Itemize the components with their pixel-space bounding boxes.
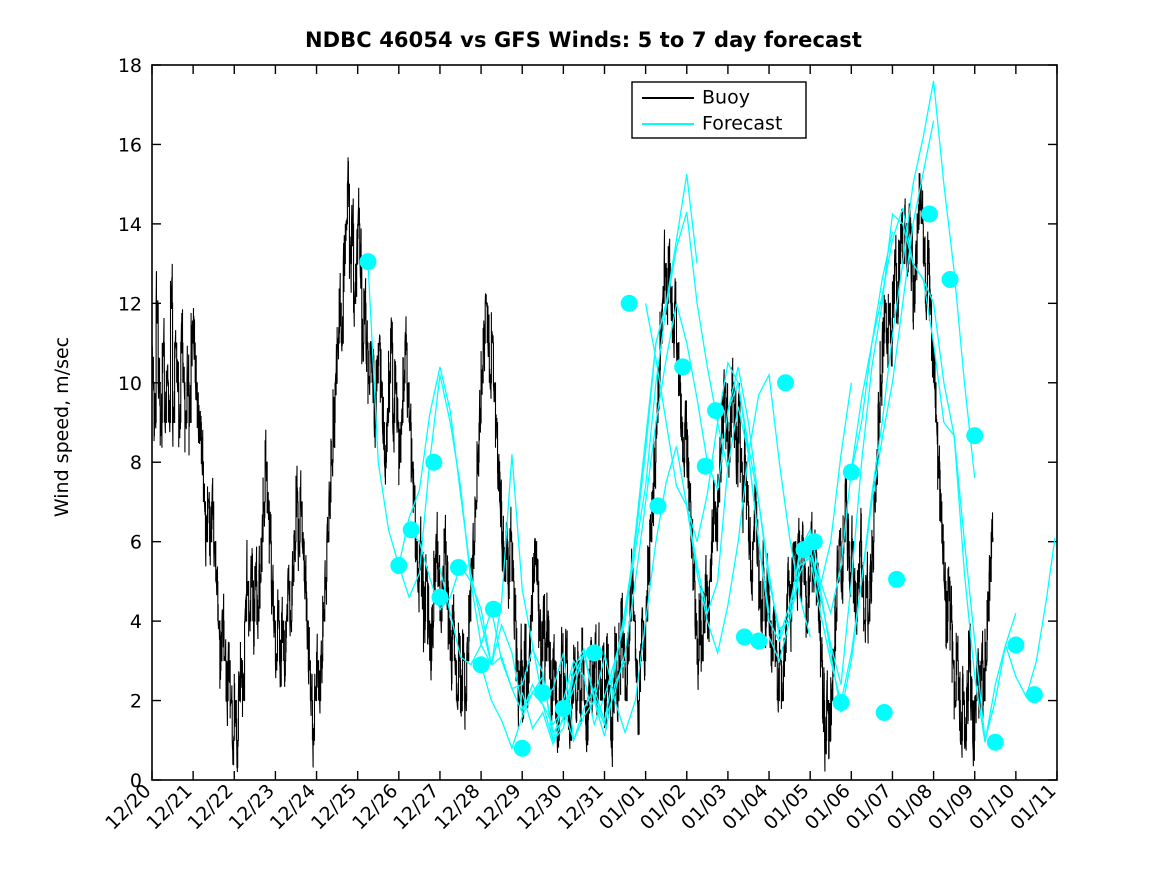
legend-label-buoy: Buoy bbox=[702, 87, 750, 109]
forecast-marker bbox=[921, 205, 938, 222]
x-tick-label: 12/24 bbox=[266, 780, 320, 834]
forecast-marker bbox=[649, 497, 666, 514]
forecast-marker bbox=[586, 644, 603, 661]
forecast-marker bbox=[390, 557, 407, 574]
y-tick-label: 6 bbox=[130, 532, 142, 554]
forecast-marker bbox=[806, 533, 823, 550]
legend-label-forecast: Forecast bbox=[702, 113, 782, 135]
x-tick-label: 12/30 bbox=[513, 780, 567, 834]
y-tick-label: 4 bbox=[130, 611, 142, 633]
forecast-marker bbox=[514, 740, 531, 757]
x-tick-label: 01/02 bbox=[636, 780, 690, 834]
forecast-marker bbox=[403, 521, 420, 538]
forecast-marker bbox=[425, 454, 442, 471]
forecast-marker bbox=[843, 464, 860, 481]
forecast-marker bbox=[987, 734, 1004, 751]
forecast-marker bbox=[707, 402, 724, 419]
forecast-marker bbox=[736, 629, 753, 646]
x-tick-label: 12/28 bbox=[430, 780, 484, 834]
x-tick-label: 01/05 bbox=[759, 780, 813, 834]
y-tick-label: 2 bbox=[130, 691, 142, 713]
forecast-marker bbox=[833, 694, 850, 711]
x-tick-label: 01/03 bbox=[677, 780, 731, 834]
x-tick-label: 01/10 bbox=[965, 780, 1019, 834]
x-tick-label: 12/21 bbox=[142, 780, 196, 834]
forecast-marker bbox=[431, 589, 448, 606]
x-tick-label: 01/06 bbox=[801, 780, 855, 834]
x-tick-label: 12/22 bbox=[184, 780, 238, 834]
forecast-marker bbox=[534, 684, 551, 701]
x-tick-label: 01/01 bbox=[595, 780, 649, 834]
forecast-marker bbox=[750, 632, 767, 649]
x-tick-label: 12/25 bbox=[307, 780, 361, 834]
forecast-marker bbox=[555, 700, 572, 717]
y-tick-label: 16 bbox=[118, 134, 142, 156]
forecast-marker bbox=[473, 656, 490, 673]
x-tick-label: 12/29 bbox=[471, 780, 525, 834]
y-tick-label: 12 bbox=[118, 293, 142, 315]
series-forecast-run-11 bbox=[769, 81, 975, 713]
x-tick-label: 12/31 bbox=[554, 780, 608, 834]
x-tick-label: 12/20 bbox=[101, 780, 155, 834]
series-layer bbox=[152, 81, 1055, 772]
x-tick-label: 01/07 bbox=[842, 780, 896, 834]
x-tick-label: 01/11 bbox=[1006, 780, 1060, 834]
x-tick-label: 01/08 bbox=[883, 780, 937, 834]
forecast-marker bbox=[777, 374, 794, 391]
forecast-marker bbox=[966, 427, 983, 444]
forecast-marker bbox=[621, 295, 638, 312]
x-tick-label: 01/04 bbox=[718, 780, 772, 834]
forecast-marker bbox=[697, 458, 714, 475]
x-tick-label: 01/09 bbox=[924, 780, 978, 834]
x-tick-label: 12/23 bbox=[225, 780, 279, 834]
y-tick-label: 18 bbox=[118, 55, 142, 77]
x-tick-label: 12/26 bbox=[348, 780, 402, 834]
forecast-marker bbox=[485, 601, 502, 618]
forecast-marker bbox=[450, 559, 467, 576]
forecast-marker bbox=[674, 358, 691, 375]
y-tick-label: 14 bbox=[118, 214, 142, 236]
forecast-marker bbox=[359, 253, 376, 270]
forecast-marker bbox=[876, 704, 893, 721]
chart-legend: BuoyForecast bbox=[632, 82, 806, 138]
chart-page: NDBC 46054 vs GFS Winds: 5 to 7 day fore… bbox=[0, 0, 1167, 875]
forecast-marker bbox=[1026, 686, 1043, 703]
forecast-marker bbox=[888, 571, 905, 588]
forecast-marker bbox=[942, 271, 959, 288]
y-tick-label: 10 bbox=[118, 373, 142, 395]
forecast-marker bbox=[1007, 636, 1024, 653]
chart-canvas: 02468101214161812/2012/2112/2212/2312/24… bbox=[0, 0, 1167, 875]
y-tick-label: 8 bbox=[130, 452, 142, 474]
x-tick-label: 12/27 bbox=[389, 780, 443, 834]
